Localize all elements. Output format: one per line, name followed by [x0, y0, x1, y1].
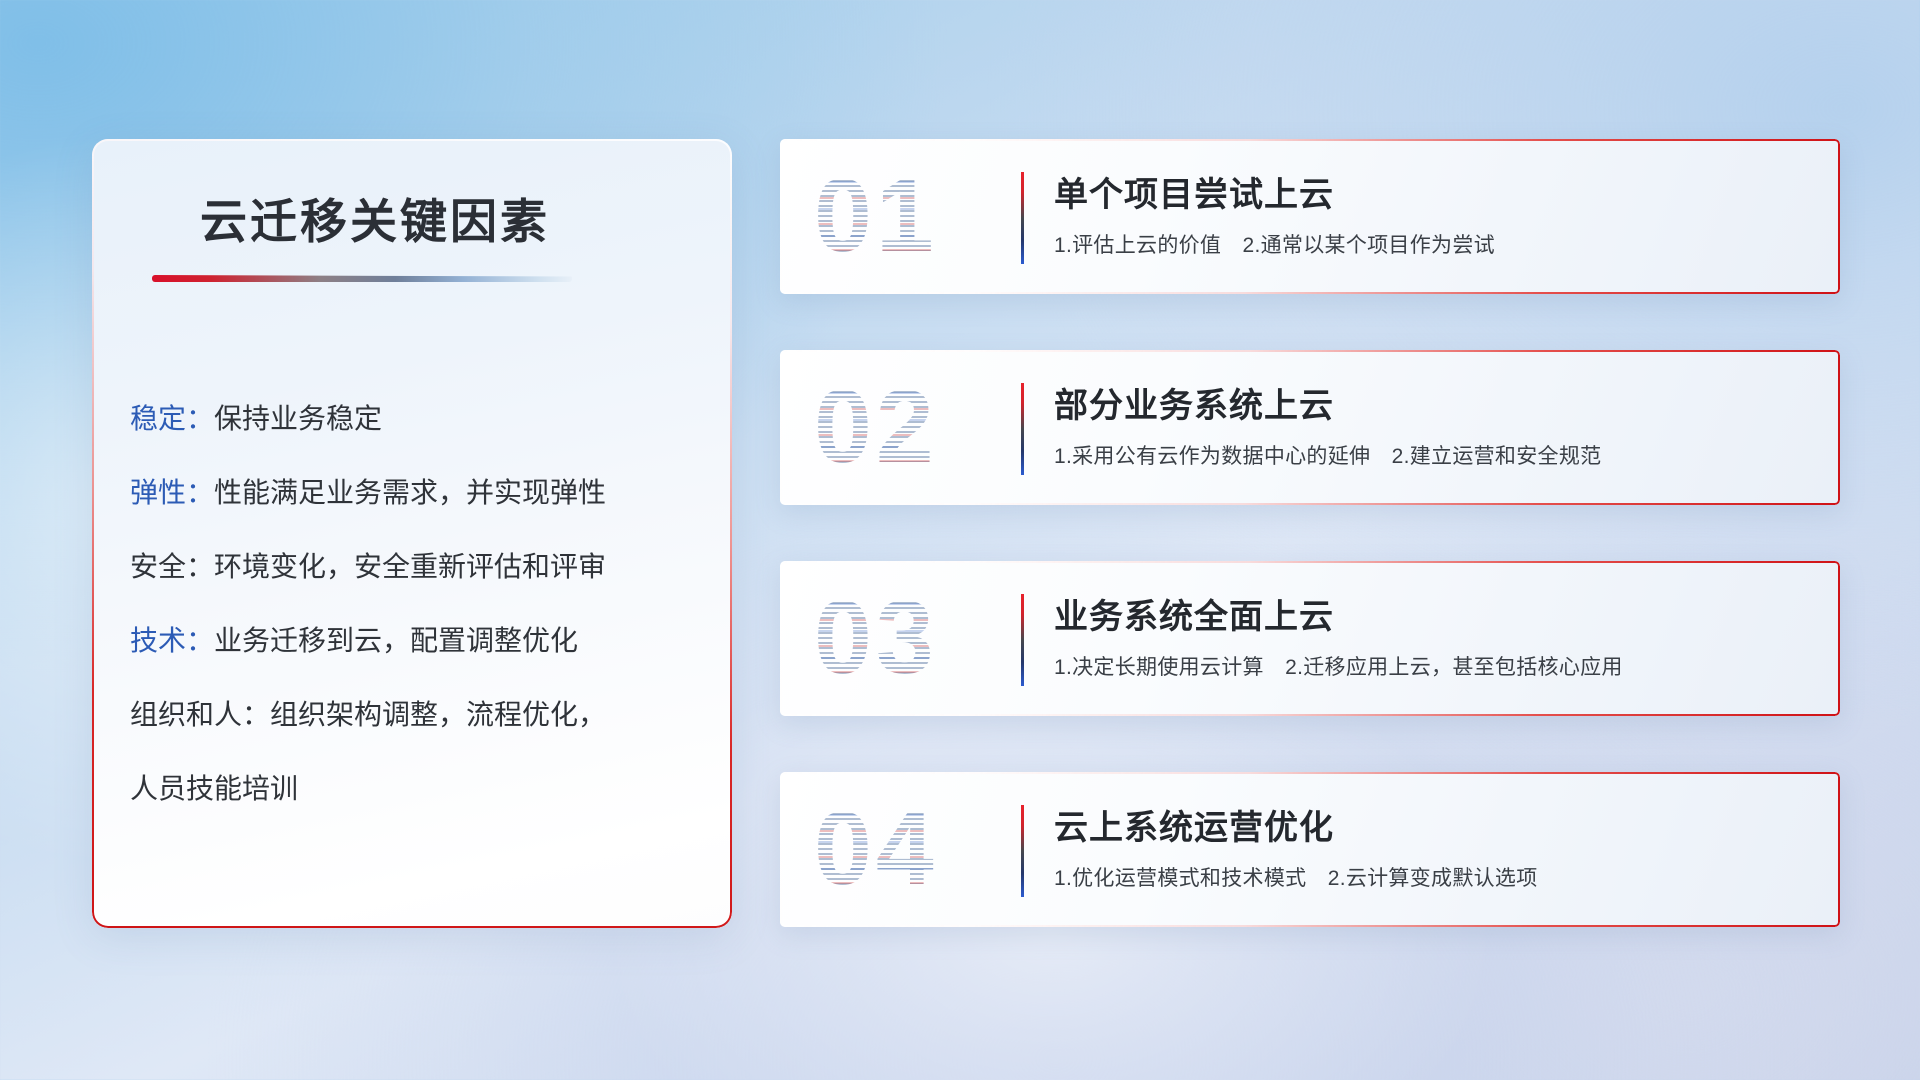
factor-row: 人员技能培训 — [130, 752, 690, 826]
factor-list: 稳定：保持业务稳定弹性：性能满足业务需求，并实现弹性安全：环境变化，安全重新评估… — [130, 382, 690, 826]
stage-title: 单个项目尝试上云 — [1054, 167, 1334, 216]
stage-title: 云上系统运营优化 — [1054, 800, 1334, 849]
stage-number: 02 — [814, 366, 1004, 488]
stage-number: 04 — [814, 788, 1004, 910]
factor-label: 技术： — [130, 625, 214, 656]
stage-title: 部分业务系统上云 — [1054, 378, 1334, 427]
stage-card[interactable]: 0101单个项目尝试上云1.评估上云的价值 2.通常以某个项目作为尝试 — [780, 139, 1840, 294]
factor-row: 组织和人：组织架构调整，流程优化， — [130, 678, 690, 752]
stage-accent-divider — [1021, 172, 1024, 264]
factor-value: 业务迁移到云，配置调整优化 — [214, 625, 578, 656]
stage-subtitle: 1.优化运营模式和技术模式 2.云计算变成默认选项 — [1054, 862, 1538, 892]
stage-subtitle: 1.采用公有云作为数据中心的延伸 2.建立运营和安全规范 — [1054, 440, 1601, 470]
factor-row: 技术：业务迁移到云，配置调整优化 — [130, 604, 690, 678]
stage-title: 业务系统全面上云 — [1054, 589, 1334, 638]
factor-value: 组织架构调整，流程优化， — [270, 699, 606, 730]
factor-value: 人员技能培训 — [130, 773, 298, 804]
factor-row: 稳定：保持业务稳定 — [130, 382, 690, 456]
stage-subtitle: 1.决定长期使用云计算 2.迁移应用上云，甚至包括核心应用 — [1054, 651, 1623, 681]
stage-card-list: 0101单个项目尝试上云1.评估上云的价值 2.通常以某个项目作为尝试0202部… — [780, 139, 1840, 983]
stage-number: 01 — [814, 155, 1004, 277]
factor-row: 安全：环境变化，安全重新评估和评审 — [130, 530, 690, 604]
stage-card[interactable]: 0404云上系统运营优化1.优化运营模式和技术模式 2.云计算变成默认选项 — [780, 772, 1840, 927]
factor-value: 性能满足业务需求，并实现弹性 — [214, 477, 606, 508]
factor-label: 安全： — [130, 551, 214, 582]
stage-subtitle: 1.评估上云的价值 2.通常以某个项目作为尝试 — [1054, 229, 1495, 259]
factor-label: 弹性： — [130, 477, 214, 508]
factor-row: 弹性：性能满足业务需求，并实现弹性 — [130, 456, 690, 530]
factor-value: 保持业务稳定 — [214, 403, 382, 434]
factor-label: 稳定： — [130, 403, 214, 434]
stage-card[interactable]: 0202部分业务系统上云1.采用公有云作为数据中心的延伸 2.建立运营和安全规范 — [780, 350, 1840, 505]
stage-number: 03 — [814, 577, 1004, 699]
stage-accent-divider — [1021, 383, 1024, 475]
stage-accent-divider — [1021, 594, 1024, 686]
factor-label: 组织和人： — [130, 699, 270, 730]
stage-accent-divider — [1021, 805, 1024, 897]
page-title: 云迁移关键因素 — [200, 183, 550, 252]
stage-card[interactable]: 0303业务系统全面上云1.决定长期使用云计算 2.迁移应用上云，甚至包括核心应… — [780, 561, 1840, 716]
factor-value: 环境变化，安全重新评估和评审 — [214, 551, 606, 582]
